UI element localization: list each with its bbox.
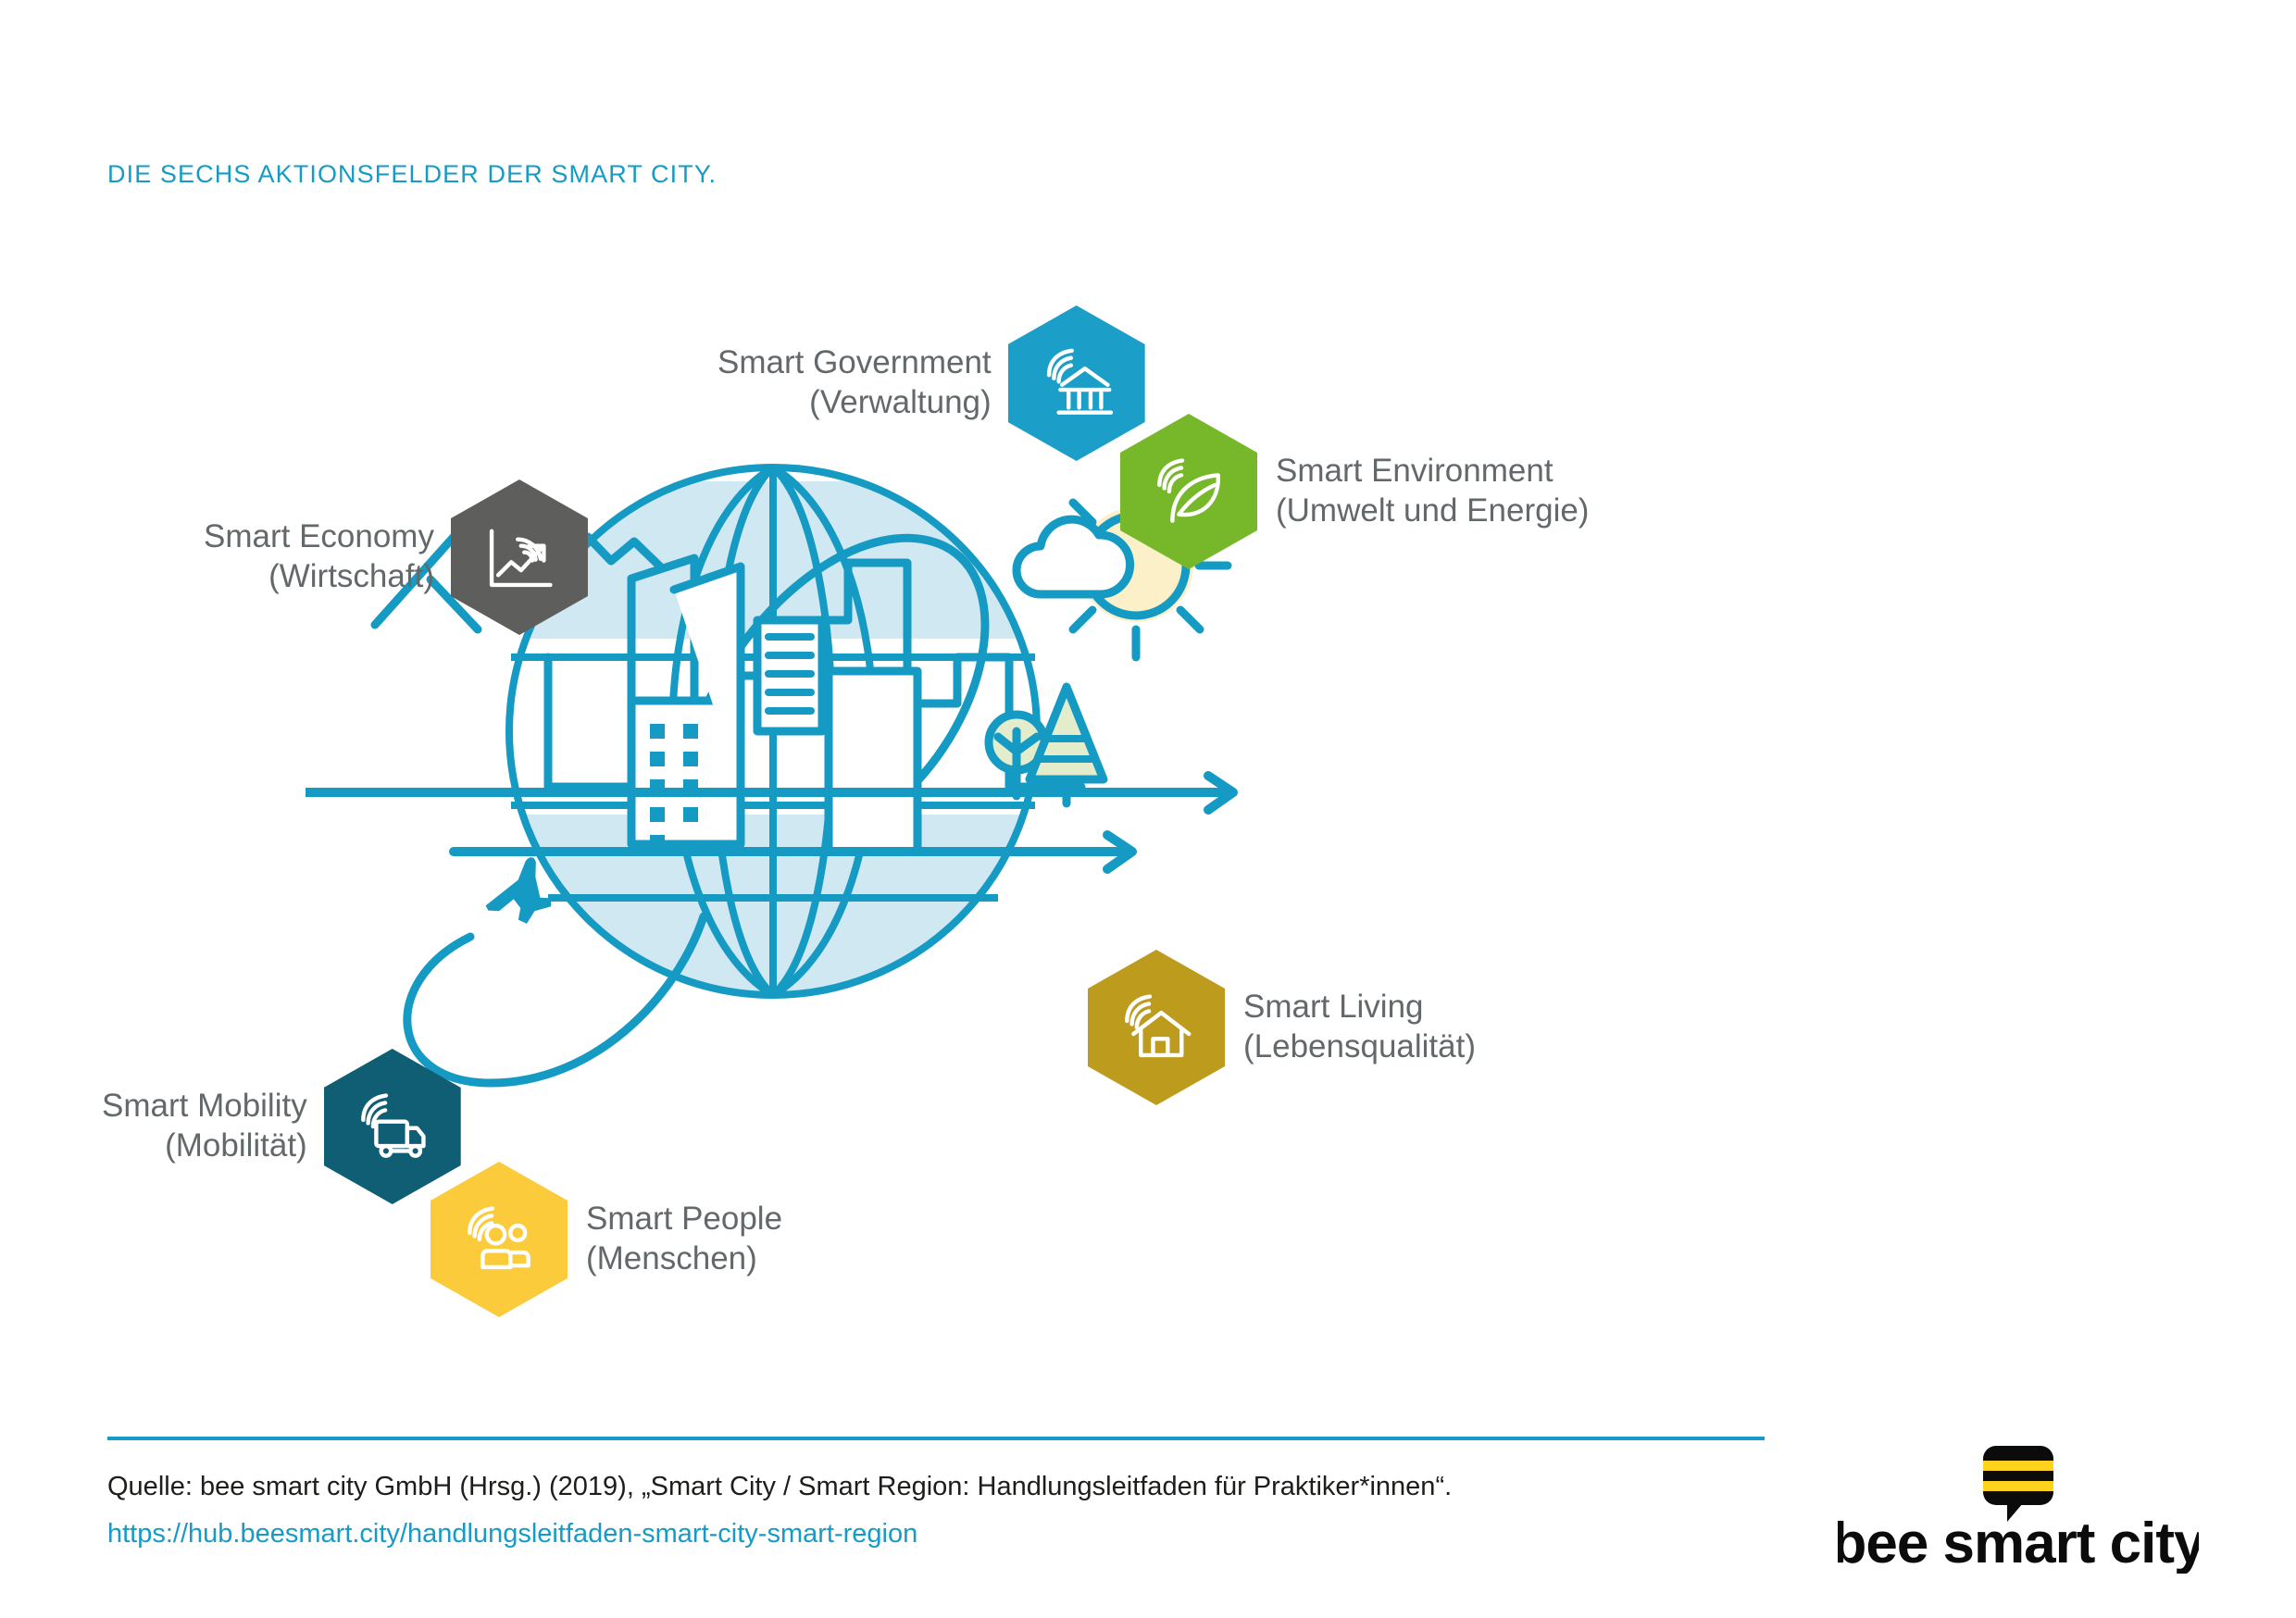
field-subtitle-mobility: (Mobilität)	[102, 1126, 307, 1166]
field-label-mobility: Smart Mobility (Mobilität)	[102, 1087, 307, 1165]
field-subtitle-environment: (Umwelt und Energie)	[1276, 492, 1589, 531]
growth-chart-wifi-icon	[479, 517, 560, 598]
source-citation: Quelle: bee smart city GmbH (Hrsg.) (201…	[107, 1472, 1452, 1502]
source-url-link[interactable]: https://hub.beesmart.city/handlungsleitf…	[107, 1519, 917, 1550]
field-node-government[interactable]: Smart Government (Verwaltung)	[717, 305, 1145, 461]
government-building-wifi-icon	[1036, 342, 1117, 424]
field-subtitle-people: (Menschen)	[586, 1239, 782, 1279]
field-label-economy: Smart Economy (Wirtschaft)	[204, 517, 434, 596]
field-title-government: Smart Government	[717, 344, 992, 380]
leaf-wifi-icon	[1148, 451, 1229, 532]
bee-speech-bubble-icon	[1983, 1446, 2053, 1522]
field-title-mobility: Smart Mobility	[102, 1088, 307, 1124]
field-subtitle-economy: (Wirtschaft)	[204, 557, 434, 597]
footer-divider	[107, 1437, 1765, 1440]
field-subtitle-government: (Verwaltung)	[717, 383, 992, 423]
field-label-living: Smart Living (Lebensqualität)	[1243, 988, 1476, 1066]
svg-text:bee smart city: bee smart city	[1838, 1512, 2199, 1574]
field-label-government: Smart Government (Verwaltung)	[717, 343, 992, 422]
field-node-living[interactable]: Smart Living (Lebensqualität)	[1088, 950, 1476, 1105]
field-node-economy[interactable]: Smart Economy (Wirtschaft)	[204, 479, 588, 635]
infographic-page: DIE SECHS AKTIONSFELDER DER SMART CITY.	[0, 0, 2296, 1618]
hex-people[interactable]	[430, 1162, 568, 1317]
field-node-mobility[interactable]: Smart Mobility (Mobilität)	[102, 1049, 461, 1204]
field-title-people: Smart People	[586, 1201, 782, 1237]
field-title-environment: Smart Environment	[1276, 453, 1554, 489]
page-title: DIE SECHS AKTIONSFELDER DER SMART CITY.	[107, 160, 717, 189]
field-node-people[interactable]: Smart People (Menschen)	[430, 1162, 782, 1317]
field-title-living: Smart Living	[1243, 989, 1424, 1025]
hex-living[interactable]	[1088, 950, 1225, 1105]
people-wifi-icon	[458, 1199, 540, 1280]
truck-wifi-icon	[352, 1086, 433, 1167]
house-wifi-icon	[1116, 987, 1197, 1068]
bee-smart-city-logo: bee smart city	[1838, 1444, 2199, 1574]
field-label-environment: Smart Environment (Umwelt und Energie)	[1276, 452, 1589, 530]
hex-environment[interactable]	[1120, 414, 1257, 569]
field-title-economy: Smart Economy	[204, 518, 434, 554]
field-node-environment[interactable]: Smart Environment (Umwelt und Energie)	[1120, 414, 1589, 569]
field-subtitle-living: (Lebensqualität)	[1243, 1027, 1476, 1067]
hex-economy[interactable]	[451, 479, 588, 635]
field-label-people: Smart People (Menschen)	[586, 1200, 782, 1278]
